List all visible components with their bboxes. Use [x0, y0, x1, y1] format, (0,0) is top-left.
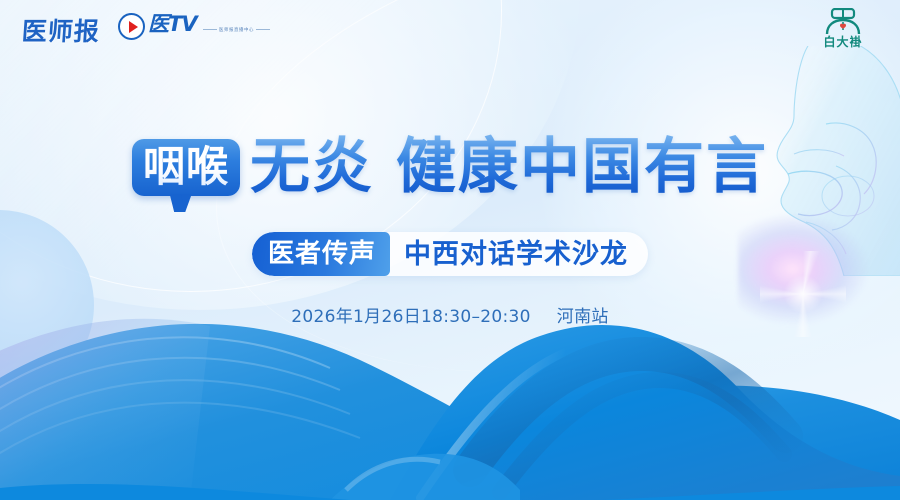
play-triangle-icon [129, 21, 138, 33]
subtitle-row: 医者传声 中西对话学术沙龙 [0, 230, 900, 278]
etv-logo-words: 医TV 医师报直播中心 [148, 13, 272, 36]
baidagua-logo-text: 白大褂 [823, 36, 862, 48]
event-datetime-row: 2026年1月26日18:30–20:30 河南站 [0, 300, 900, 328]
title-speech-bubble: 咽喉 [132, 139, 240, 196]
main-title: 咽喉 无炎 健康中国有言 [0, 126, 900, 208]
etv-logo-text: 医TV [148, 12, 197, 36]
event-datetime: 2026年1月26日18:30–20:30 [291, 302, 531, 327]
logo-bar: 医师报 医TV 医师报直播中心 [0, 0, 900, 56]
subtitle-badge: 医者传声 [252, 232, 390, 276]
etv-logo[interactable]: 医TV 医师报直播中心 [118, 13, 272, 40]
rule-right-icon [256, 29, 270, 30]
baidagua-logo[interactable]: 白大褂 [804, 8, 882, 52]
yishibao-logo-text: 医师报 [21, 17, 101, 46]
event-city: 河南站 [557, 302, 609, 327]
blue-silk-waves [0, 240, 900, 500]
subtitle-pill: 医者传声 中西对话学术沙龙 [252, 232, 648, 276]
title-text-part1: 无炎 [250, 134, 374, 200]
play-circle-icon [118, 13, 145, 40]
doctor-coat-icon [816, 8, 870, 35]
yishibao-logo[interactable]: 医师报 [21, 12, 102, 48]
subtitle-text: 中西对话学术沙龙 [390, 232, 628, 276]
title-text-part2: 健康中国有言 [396, 134, 768, 200]
etv-logo-subtext-wrap: 医师报直播中心 [201, 27, 272, 32]
rule-left-icon [203, 29, 217, 30]
subtitle-badge-text: 医者传声 [268, 240, 376, 268]
etv-logo-subtext: 医师报直播中心 [219, 27, 254, 32]
event-poster: 医师报 医TV 医师报直播中心 [0, 0, 900, 500]
title-badge-text: 咽喉 [143, 142, 229, 191]
